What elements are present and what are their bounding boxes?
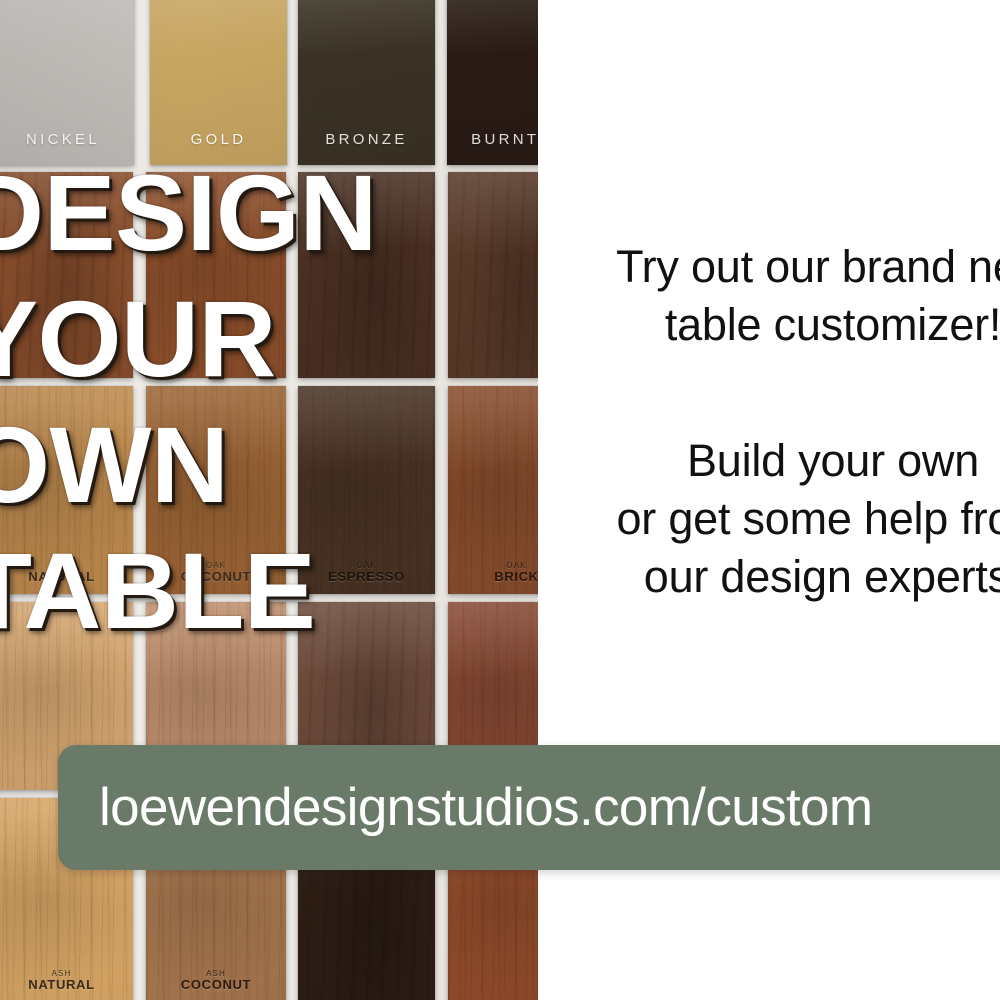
ad-creative: NICKEL GOLD BRONZE BURNT P — [0, 0, 1000, 1000]
swatch-gold: GOLD — [150, 0, 287, 165]
swatch-oak-coconut: OAK COCONUT — [146, 386, 286, 594]
swatch-oak-espresso: OAK ESPRESSO — [298, 386, 435, 594]
copy-paragraph-1: Try out our brand new table customizer! — [538, 238, 1000, 354]
swatch-burnt-penny: BURNT P — [447, 0, 538, 165]
grain-texture — [298, 386, 435, 594]
grain-texture — [0, 172, 133, 378]
grain-texture — [0, 386, 133, 594]
grain-texture — [448, 172, 538, 378]
swatch-wood — [448, 172, 538, 378]
swatch-wood — [0, 172, 133, 378]
swatch-wood — [298, 172, 435, 378]
grain-texture — [298, 172, 435, 378]
swatch-oak-brick: OAK BRICK — [448, 386, 538, 594]
grain-texture — [146, 172, 286, 378]
grain-texture — [448, 386, 538, 594]
swatch-oak-natural: OAK NATURAL — [0, 386, 133, 594]
copy-paragraph-2: Build your own or get some help from our… — [538, 432, 1000, 606]
swatch-wood — [146, 172, 286, 378]
url-text: loewendesignstudios.com/custom — [99, 781, 872, 834]
swatch-nickel: NICKEL — [0, 0, 134, 165]
url-banner[interactable]: loewendesignstudios.com/custom — [58, 745, 1000, 870]
grain-texture — [146, 386, 286, 594]
swatch-bronze: BRONZE — [298, 0, 435, 165]
